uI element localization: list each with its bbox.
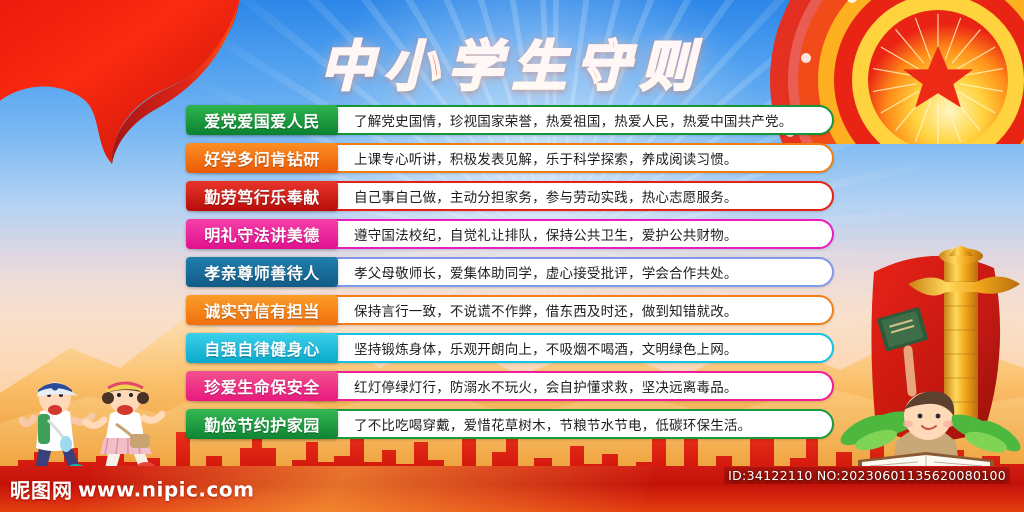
rule-badge: 明礼守法讲美德 bbox=[186, 219, 338, 249]
rules-list: 爱党爱国爱人民了解党史国情，珍视国家荣誉，热爱祖国，热爱人民，热爱中国共产党。好… bbox=[186, 105, 834, 447]
rule-description: 了不比吃喝穿戴，爱惜花草树木，节粮节水节电，低碳环保生活。 bbox=[338, 409, 834, 439]
rule-description: 上课专心听讲，积极发表见解，乐于科学探索，养成阅读习惯。 bbox=[338, 143, 834, 173]
rule-badge: 爱党爱国爱人民 bbox=[186, 105, 338, 135]
rule-description: 坚持锻炼身体，乐观开朗向上，不吸烟不喝酒，文明绿色上网。 bbox=[338, 333, 834, 363]
rule-badge: 孝亲尊师善待人 bbox=[186, 257, 338, 287]
rule-description: 遵守国法校纪，自觉礼让排队，保持公共卫生，爱护公共财物。 bbox=[338, 219, 834, 249]
brand-url: www.nipic.com bbox=[78, 477, 254, 501]
rule-row: 明礼守法讲美德遵守国法校纪，自觉礼让排队，保持公共卫生，爱护公共财物。 bbox=[186, 219, 834, 249]
rule-row: 诚实守信有担当保持言行一致，不说谎不作弊，借东西及时还，做到知错就改。 bbox=[186, 295, 834, 325]
rule-row: 好学多问肯钻研上课专心听讲，积极发表见解，乐于科学探索，养成阅读习惯。 bbox=[186, 143, 834, 173]
rule-badge: 勤俭节约护家园 bbox=[186, 409, 338, 439]
rule-row: 爱党爱国爱人民了解党史国情，珍视国家荣誉，热爱祖国，热爱人民，热爱中国共产党。 bbox=[186, 105, 834, 135]
rule-badge: 诚实守信有担当 bbox=[186, 295, 338, 325]
rule-badge: 勤劳笃行乐奉献 bbox=[186, 181, 338, 211]
brand-name-cn: 昵图网 bbox=[10, 475, 73, 504]
rule-description: 红灯停绿灯行，防溺水不玩火，会自护懂求救，坚决远离毒品。 bbox=[338, 371, 834, 401]
rule-description: 孝父母敬师长，爱集体助同学，虚心接受批评，学会合作共处。 bbox=[338, 257, 834, 287]
poster-canvas: 中小学生守则 爱党爱国爱人民了解党史国情，珍视国家荣誉，热爱祖国，热爱人民，热爱… bbox=[0, 0, 1024, 512]
brand-logo[interactable]: 昵图网 www.nipic.com bbox=[10, 475, 254, 504]
rule-row: 孝亲尊师善待人孝父母敬师长，爱集体助同学，虚心接受批评，学会合作共处。 bbox=[186, 257, 834, 287]
rule-row: 勤劳笃行乐奉献自己事自己做，主动分担家务，参与劳动实践，热心志愿服务。 bbox=[186, 181, 834, 211]
rule-badge: 自强自律健身心 bbox=[186, 333, 338, 363]
image-id-overlay: ID:34122110 NO:20230601135620080100 bbox=[724, 467, 1010, 484]
rule-badge: 好学多问肯钻研 bbox=[186, 143, 338, 173]
rule-row: 珍爱生命保安全红灯停绿灯行，防溺水不玩火，会自护懂求救，坚决远离毒品。 bbox=[186, 371, 834, 401]
rule-description: 自己事自己做，主动分担家务，参与劳动实践，热心志愿服务。 bbox=[338, 181, 834, 211]
rule-description: 保持言行一致，不说谎不作弊，借东西及时还，做到知错就改。 bbox=[338, 295, 834, 325]
rule-badge: 珍爱生命保安全 bbox=[186, 371, 338, 401]
rule-row: 勤俭节约护家园了不比吃喝穿戴，爱惜花草树木，节粮节水节电，低碳环保生活。 bbox=[186, 409, 834, 439]
rule-row: 自强自律健身心坚持锻炼身体，乐观开朗向上，不吸烟不喝酒，文明绿色上网。 bbox=[186, 333, 834, 363]
rule-description: 了解党史国情，珍视国家荣誉，热爱祖国，热爱人民，热爱中国共产党。 bbox=[338, 105, 834, 135]
